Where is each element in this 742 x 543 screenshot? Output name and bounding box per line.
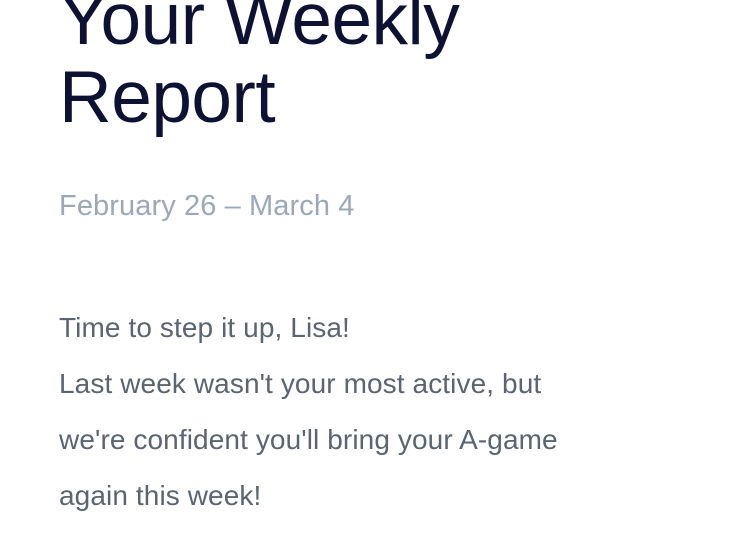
message-line: we're confident you'll bring your A-game (59, 412, 679, 468)
message-line: again this week! (59, 468, 679, 524)
message-line: Last week wasn't your most active, but (59, 356, 679, 412)
message-line: Time to step it up, Lisa! (59, 300, 679, 356)
report-date-range: February 26 – March 4 (59, 188, 354, 224)
weekly-report-card: Your Weekly Report February 26 – March 4… (0, 0, 742, 543)
report-message: Time to step it up, Lisa! Last week wasn… (59, 300, 679, 524)
page-title: Your Weekly Report (59, 0, 579, 137)
